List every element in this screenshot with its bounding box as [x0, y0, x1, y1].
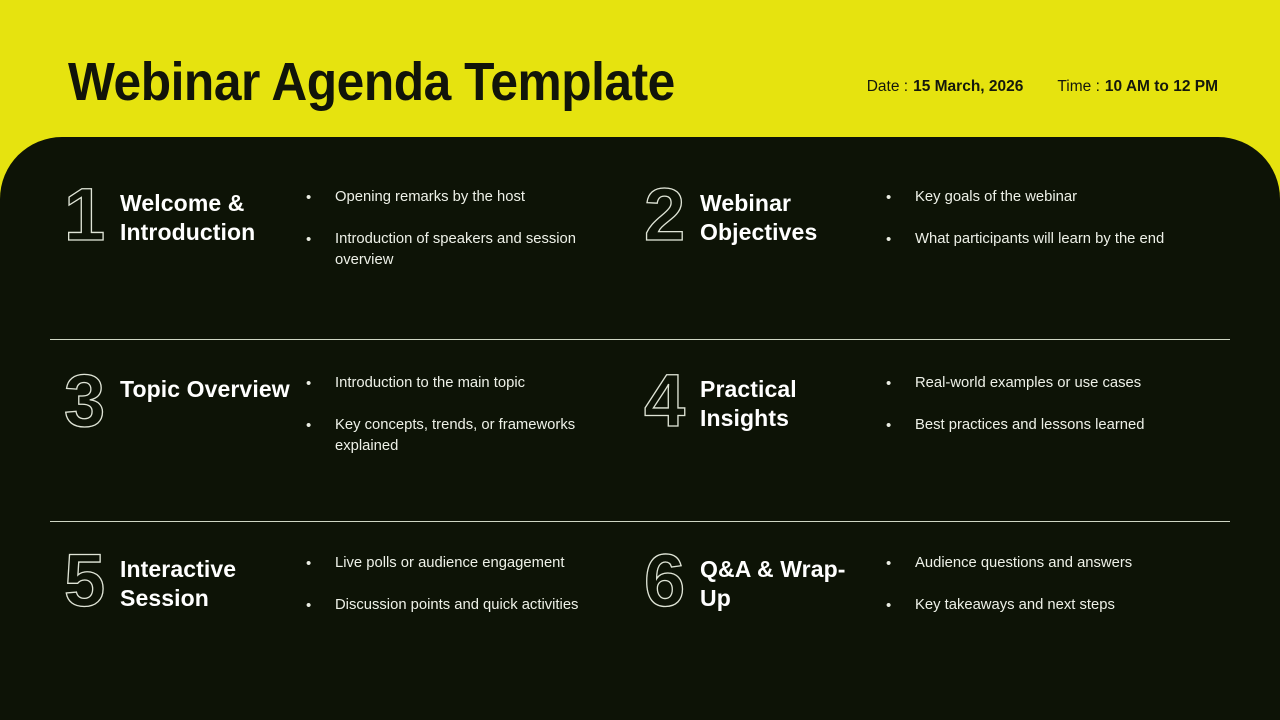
- bullet-icon: •: [886, 553, 915, 575]
- list-item: • Real-world examples or use cases: [886, 373, 1280, 395]
- date-value: 15 March, 2026: [913, 78, 1023, 96]
- agenda-title: Q&A & Wrap-Up: [700, 555, 870, 613]
- agenda-points: • Opening remarks by the host • Introduc…: [290, 187, 630, 271]
- point-text: Best practices and lessons learned: [915, 415, 1215, 436]
- agenda-row: 5 Interactive Session • Live polls or au…: [0, 549, 1280, 679]
- date-group: Date : 15 March, 2026: [867, 78, 1024, 96]
- agenda-number: 1: [64, 177, 120, 253]
- point-text: Introduction to the main topic: [335, 373, 610, 394]
- bullet-icon: •: [306, 553, 335, 575]
- bullet-icon: •: [886, 229, 915, 251]
- time-group: Time : 10 AM to 12 PM: [1057, 78, 1218, 96]
- list-item: • Best practices and lessons learned: [886, 415, 1280, 437]
- agenda-number: 4: [644, 363, 700, 439]
- agenda-number: 3: [64, 363, 120, 439]
- slide-header: Webinar Agenda Template Date : 15 March,…: [0, 0, 1280, 137]
- agenda-number: 2: [644, 177, 700, 253]
- agenda-number: 5: [64, 543, 120, 619]
- agenda-row: 3 Topic Overview • Introduction to the m…: [0, 369, 1280, 509]
- list-item: • Opening remarks by the host: [306, 187, 630, 209]
- bullet-icon: •: [306, 229, 335, 251]
- point-text: Introduction of speakers and session ove…: [335, 229, 610, 271]
- list-item: • Key goals of the webinar: [886, 187, 1280, 209]
- point-text: Audience questions and answers: [915, 553, 1215, 574]
- list-item: • Introduction to the main topic: [306, 373, 630, 395]
- agenda-item-5[interactable]: 5 Interactive Session • Live polls or au…: [0, 549, 630, 679]
- agenda-points: • Key goals of the webinar • What partic…: [870, 187, 1280, 251]
- list-item: • Key takeaways and next steps: [886, 595, 1280, 617]
- bullet-icon: •: [306, 415, 335, 437]
- agenda-item-4[interactable]: 4 Practical Insights • Real-world exampl…: [630, 369, 1280, 509]
- point-text: Discussion points and quick activities: [335, 595, 610, 616]
- list-item: • Key concepts, trends, or frameworks ex…: [306, 415, 630, 457]
- point-text: Live polls or audience engagement: [335, 553, 610, 574]
- agenda-item-6[interactable]: 6 Q&A & Wrap-Up • Audience questions and…: [630, 549, 1280, 679]
- bullet-icon: •: [306, 373, 335, 395]
- agenda-points: • Audience questions and answers • Key t…: [870, 553, 1280, 617]
- bullet-icon: •: [886, 187, 915, 209]
- agenda-title: Topic Overview: [120, 375, 290, 404]
- agenda-grid: 1 Welcome & Introduction • Opening remar…: [0, 137, 1280, 720]
- agenda-title: Webinar Objectives: [700, 189, 870, 247]
- point-text: Opening remarks by the host: [335, 187, 610, 208]
- bullet-icon: •: [886, 373, 915, 395]
- agenda-points: • Real-world examples or use cases • Bes…: [870, 373, 1280, 437]
- bullet-icon: •: [886, 415, 915, 437]
- agenda-title: Practical Insights: [700, 375, 870, 433]
- agenda-number: 6: [644, 543, 700, 619]
- bullet-icon: •: [306, 595, 335, 617]
- agenda-title: Welcome & Introduction: [120, 189, 290, 247]
- bullet-icon: •: [306, 187, 335, 209]
- list-item: • Introduction of speakers and session o…: [306, 229, 630, 271]
- time-label: Time :: [1057, 78, 1099, 96]
- point-text: What participants will learn by the end: [915, 229, 1215, 250]
- agenda-row: 1 Welcome & Introduction • Opening remar…: [0, 183, 1280, 323]
- point-text: Key goals of the webinar: [915, 187, 1215, 208]
- agenda-points: • Introduction to the main topic • Key c…: [290, 373, 630, 457]
- agenda-item-2[interactable]: 2 Webinar Objectives • Key goals of the …: [630, 183, 1280, 323]
- list-item: • What participants will learn by the en…: [886, 229, 1280, 251]
- page-title: Webinar Agenda Template: [68, 50, 675, 114]
- list-item: • Live polls or audience engagement: [306, 553, 630, 575]
- agenda-item-3[interactable]: 3 Topic Overview • Introduction to the m…: [0, 369, 630, 509]
- time-value: 10 AM to 12 PM: [1105, 78, 1218, 96]
- agenda-title: Interactive Session: [120, 555, 290, 613]
- point-text: Key takeaways and next steps: [915, 595, 1215, 616]
- list-item: • Discussion points and quick activities: [306, 595, 630, 617]
- list-item: • Audience questions and answers: [886, 553, 1280, 575]
- header-meta: Date : 15 March, 2026 Time : 10 AM to 12…: [867, 78, 1218, 96]
- agenda-item-1[interactable]: 1 Welcome & Introduction • Opening remar…: [0, 183, 630, 323]
- agenda-panel: 1 Welcome & Introduction • Opening remar…: [0, 137, 1280, 720]
- date-label: Date :: [867, 78, 908, 96]
- point-text: Key concepts, trends, or frameworks expl…: [335, 415, 610, 457]
- agenda-points: • Live polls or audience engagement • Di…: [290, 553, 630, 617]
- point-text: Real-world examples or use cases: [915, 373, 1215, 394]
- bullet-icon: •: [886, 595, 915, 617]
